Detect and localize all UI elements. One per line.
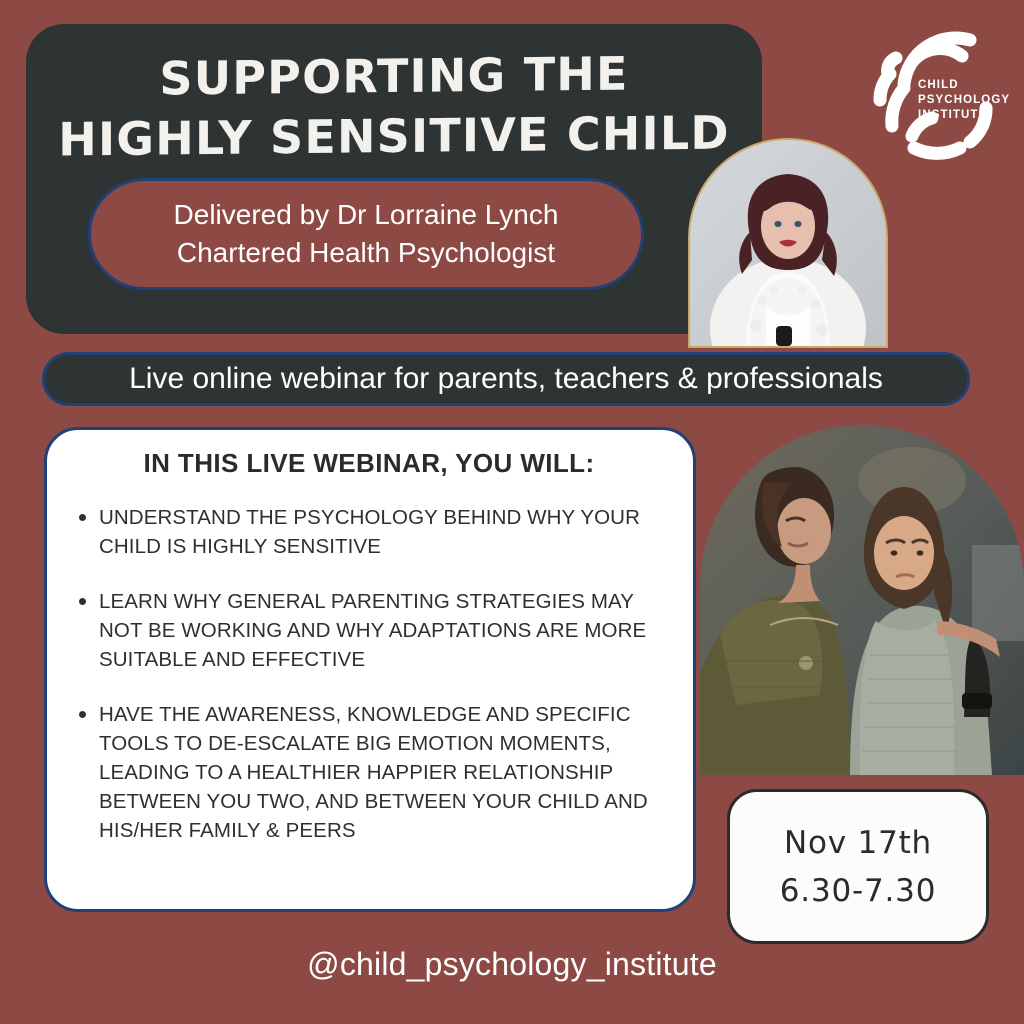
- list-item: LEARN WHY GENERAL PARENTING STRATEGIES M…: [71, 587, 667, 674]
- page-title: Supporting the Highly Sensitive Child: [56, 42, 732, 169]
- event-time: 6.30-7.30: [780, 867, 936, 915]
- logo-wordmark: CHILD PSYCHOLOGY INSTITUTE: [918, 78, 1010, 123]
- social-handle: @child_psychology_institute: [0, 946, 1024, 983]
- logo-line-1: CHILD: [918, 78, 1010, 93]
- benefits-list: UNDERSTAND THE PSYCHOLOGY BEHIND WHY YOU…: [71, 503, 667, 845]
- webinar-poster: Supporting the Highly Sensitive Child De…: [0, 0, 1024, 1024]
- presenter-title: Chartered Health Psychologist: [177, 234, 555, 272]
- presenter-portrait-photo: [688, 138, 888, 348]
- list-item: HAVE THE AWARENESS, KNOWLEDGE AND SPECIF…: [71, 700, 667, 845]
- webinar-banner: Live online webinar for parents, teacher…: [42, 352, 970, 406]
- presenter-name: Delivered by Dr Lorraine Lynch: [174, 196, 559, 234]
- logo-line-3: INSTITUTE: [918, 108, 1010, 123]
- portrait-illustration: [690, 140, 886, 346]
- event-date: Nov 17th: [784, 819, 932, 867]
- presenter-badge: Delivered by Dr Lorraine Lynch Chartered…: [88, 178, 644, 290]
- banner-text: Live online webinar for parents, teacher…: [129, 362, 883, 396]
- mother-and-daughter-photo: [700, 425, 1024, 775]
- content-card: IN THIS LIVE WEBINAR, YOU WILL: UNDERSTA…: [44, 427, 696, 912]
- brand-logo: CHILD PSYCHOLOGY INSTITUTE: [852, 22, 1012, 182]
- content-heading: IN THIS LIVE WEBINAR, YOU WILL:: [71, 448, 667, 479]
- logo-line-2: PSYCHOLOGY: [918, 93, 1010, 108]
- list-item: UNDERSTAND THE PSYCHOLOGY BEHIND WHY YOU…: [71, 503, 667, 561]
- family-illustration: [700, 425, 1024, 775]
- date-time-badge: Nov 17th 6.30-7.30: [727, 789, 989, 944]
